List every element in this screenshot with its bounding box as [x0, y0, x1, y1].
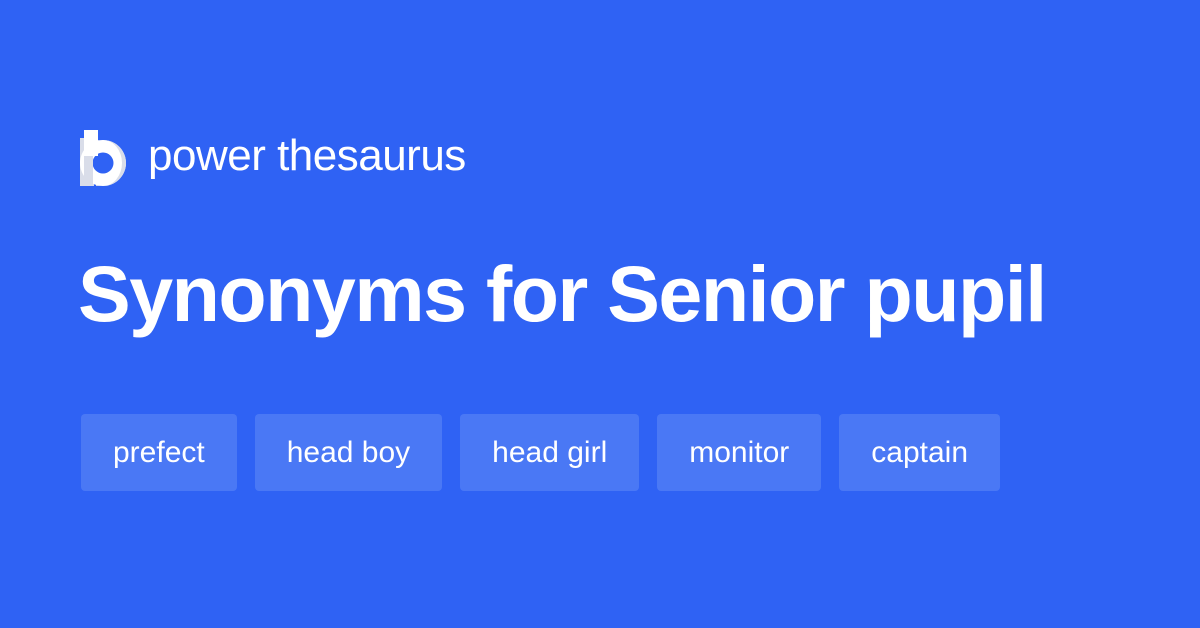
brand-name: power thesaurus	[148, 134, 466, 178]
synonym-chip[interactable]: head boy	[255, 414, 442, 491]
brand-lockup[interactable]: power thesaurus	[80, 124, 466, 188]
synonym-chip[interactable]: prefect	[81, 414, 237, 491]
social-preview-card: power thesaurus Synonyms for Senior pupi…	[0, 0, 1200, 628]
synonym-chip[interactable]: monitor	[657, 414, 821, 491]
synonym-chip[interactable]: captain	[839, 414, 1000, 491]
synonym-chip[interactable]: head girl	[460, 414, 639, 491]
page-title: Synonyms for Senior pupil	[78, 248, 1138, 340]
power-thesaurus-b-logo-icon	[80, 126, 126, 186]
synonym-chip-list: prefect head boy head girl monitor capta…	[81, 414, 1000, 491]
